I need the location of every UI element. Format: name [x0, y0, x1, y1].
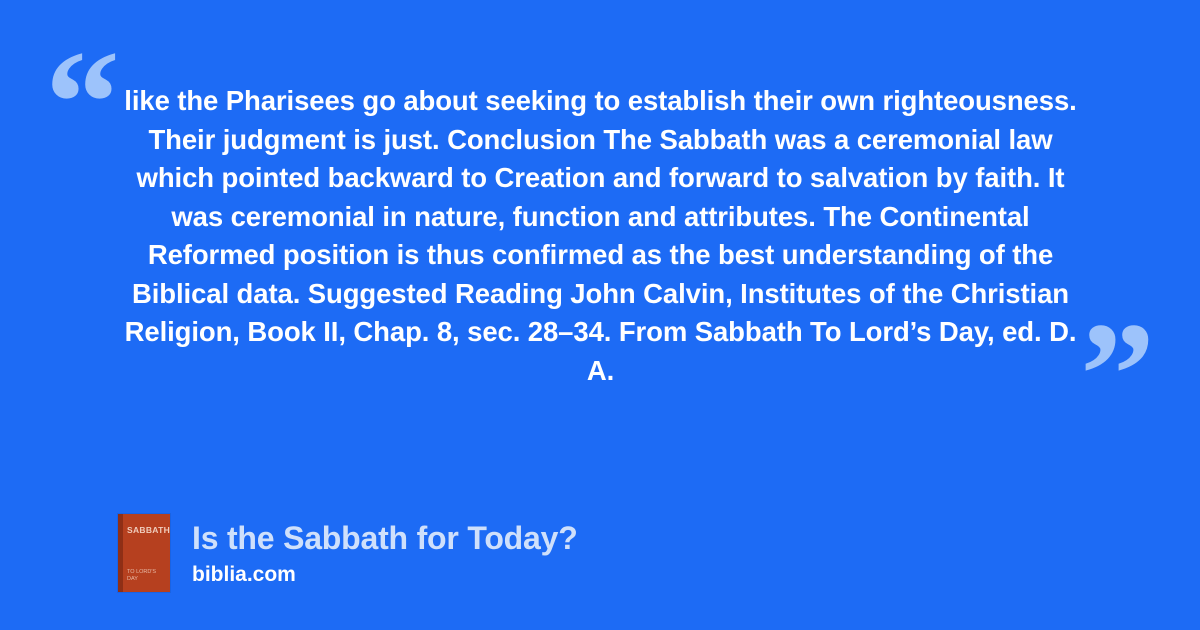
open-quote-icon: “ — [45, 28, 120, 178]
book-spine — [118, 514, 123, 592]
quote-text: like the Pharisees go about seeking to e… — [118, 82, 1083, 390]
quote-card: “ ” like the Pharisees go about seeking … — [0, 0, 1200, 630]
close-quote-icon: ” — [1080, 300, 1155, 450]
book-cover-subtitle: TO LORD'S DAY — [127, 569, 163, 583]
footer: SABBATH TO LORD'S DAY Is the Sabbath for… — [118, 514, 578, 592]
book-title: Is the Sabbath for Today? — [192, 519, 578, 557]
site-name: biblia.com — [192, 562, 578, 588]
book-cover-thumbnail: SABBATH TO LORD'S DAY — [118, 514, 170, 592]
footer-text-block: Is the Sabbath for Today? biblia.com — [192, 519, 578, 588]
book-cover-title: SABBATH — [127, 525, 161, 535]
